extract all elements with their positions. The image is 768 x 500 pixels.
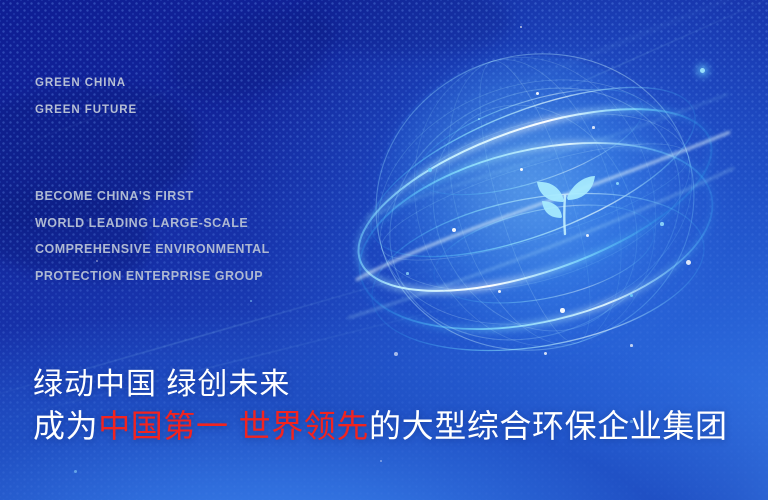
particle — [560, 308, 565, 313]
hero-banner: GREEN CHINA GREEN FUTURE BECOME CHINA'S … — [0, 0, 768, 500]
particle — [536, 92, 539, 95]
particle — [630, 294, 633, 297]
particle — [686, 260, 691, 265]
eyebrow-text: GREEN CHINA GREEN FUTURE — [35, 70, 137, 124]
particle — [74, 470, 77, 473]
particle — [630, 344, 633, 347]
headline-line-1: 绿动中国 绿创未来 — [33, 366, 728, 404]
headline-line-2: 成为中国第一世界领先的大型综合环保企业集团 — [33, 404, 728, 448]
particle — [592, 126, 595, 129]
particle — [394, 352, 398, 356]
particle — [700, 68, 705, 73]
tagline-line-3: COMPREHENSIVE ENVIRONMENTAL — [35, 236, 270, 263]
tagline-line-2: WORLD LEADING LARGE-SCALE — [35, 210, 270, 237]
headline: 绿动中国 绿创未来 成为中国第一世界领先的大型综合环保企业集团 — [33, 366, 728, 448]
tagline-text: BECOME CHINA'S FIRST WORLD LEADING LARGE… — [35, 183, 270, 289]
particle — [616, 182, 619, 185]
tagline-line-1: BECOME CHINA'S FIRST — [35, 183, 270, 210]
headline-highlight-b: 世界领先 — [239, 408, 369, 444]
headline-prefix: 成为 — [33, 408, 98, 444]
headline-suffix: 的大型综合环保企业集团 — [369, 408, 728, 444]
eyebrow-line-1: GREEN CHINA — [35, 70, 137, 97]
particle — [428, 168, 432, 172]
sprout-seedling-icon — [533, 168, 597, 240]
particle — [660, 222, 664, 226]
tagline-line-4: PROTECTION ENTERPRISE GROUP — [35, 263, 270, 290]
headline-highlight-a: 中国第一 — [98, 408, 228, 444]
particle — [406, 272, 409, 275]
eyebrow-line-2: GREEN FUTURE — [35, 97, 137, 124]
